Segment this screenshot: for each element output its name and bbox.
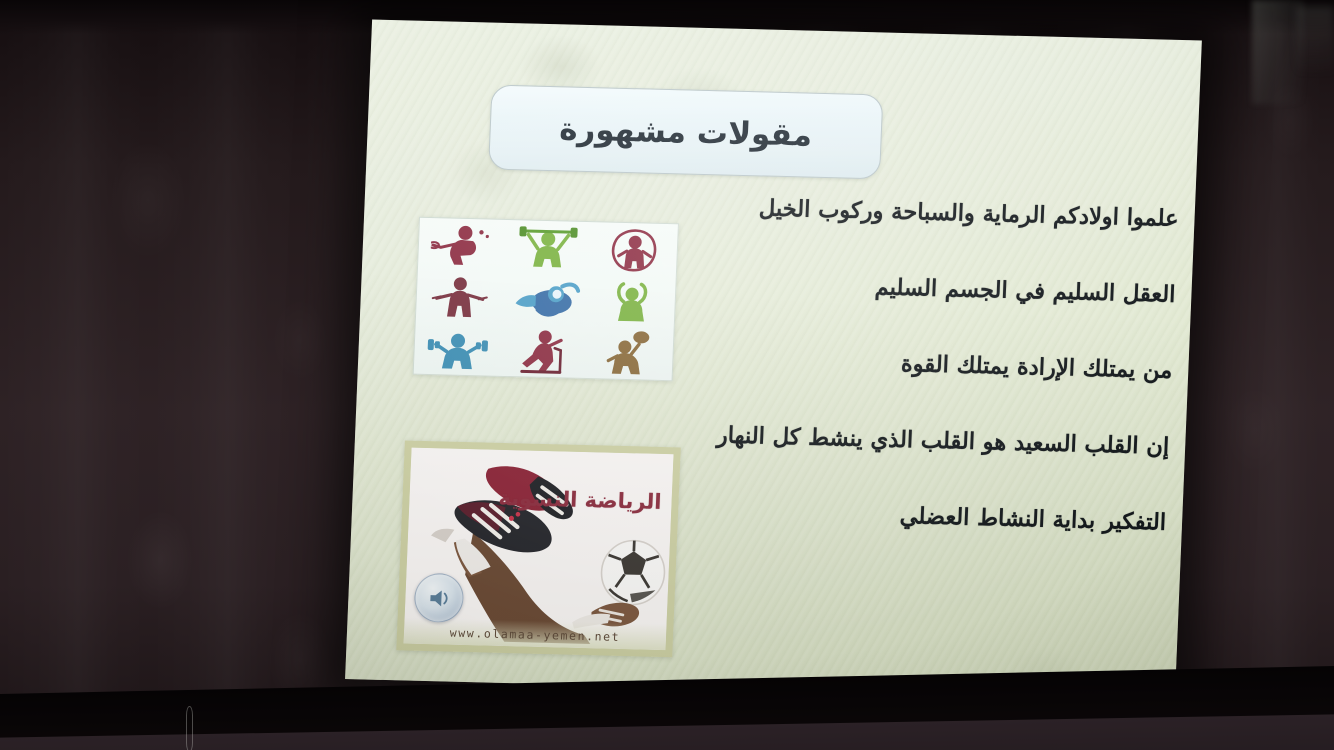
quote-line-4: إن القلب السعيد هو القلب الذي ينشط كل ال… bbox=[669, 421, 1170, 461]
hanging-wire bbox=[186, 706, 193, 750]
jump-rope-icon bbox=[590, 222, 678, 276]
presentation-slide: مقولات مشهورة علموا اولادكم الرماية والس… bbox=[345, 19, 1202, 700]
weightlifting-icon bbox=[504, 220, 592, 274]
quote-line-3: من يمتلك الإرادة يمتلك القوة bbox=[672, 345, 1173, 385]
speaker-glyph bbox=[427, 588, 452, 609]
quote-line-1: علموا اولادكم الرماية والسباحة وركوب الخ… bbox=[678, 193, 1179, 233]
dumbbell-lift-icon bbox=[414, 322, 502, 376]
swimming-icon bbox=[502, 272, 590, 326]
page-title: مقولات مشهورة bbox=[559, 111, 813, 153]
quote-line-5: التفكير بداية النشاط العضلي bbox=[666, 497, 1167, 537]
sports-pictogram-grid bbox=[413, 217, 679, 381]
womens-sports-heading: الرياضة النسوية bbox=[498, 486, 662, 514]
ball-toss-icon bbox=[586, 326, 674, 380]
projected-slide-area: مقولات مشهورة علموا اولادكم الرماية والس… bbox=[345, 19, 1202, 700]
projector-room-scene: مقولات مشهورة علموا اولادكم الرماية والس… bbox=[0, 0, 1334, 750]
quotes-list: علموا اولادكم الرماية والسباحة وركوب الخ… bbox=[664, 193, 1179, 585]
yoga-stretch-icon bbox=[588, 274, 676, 328]
aerobics-icon bbox=[416, 270, 504, 324]
quote-line-2: العقل السليم في الجسم السليم bbox=[675, 269, 1176, 309]
treadmill-running-icon bbox=[500, 324, 588, 378]
slide-title-box: مقولات مشهورة bbox=[488, 85, 883, 180]
wall-fixture-secondary bbox=[1296, 6, 1334, 76]
womens-sports-photo: الرياضة النسوية www.olamaa-yemen.net bbox=[396, 440, 681, 657]
discus-throw-icon bbox=[418, 218, 506, 272]
